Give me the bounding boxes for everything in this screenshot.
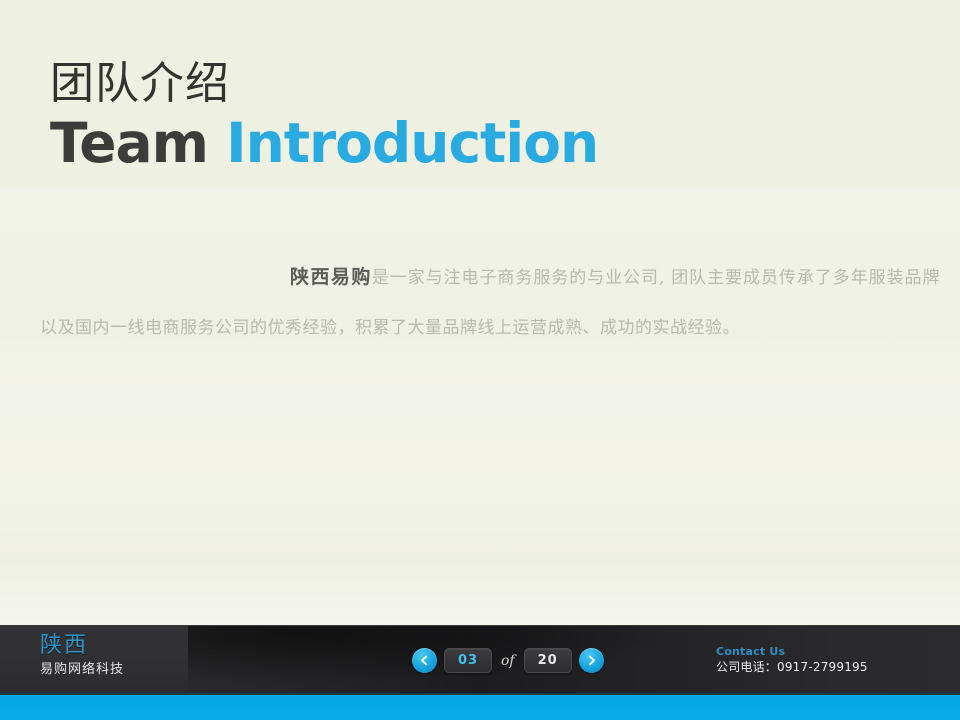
current-page-box[interactable]: 03 (444, 648, 492, 673)
pagination-separator: of (499, 653, 517, 669)
logo-subtitle: 易购网络科技 (40, 662, 124, 678)
contact-phone: 公司电话：0917-2799195 (716, 659, 868, 675)
logo-panel[interactable]: 陕西 易购网络科技 (0, 626, 188, 696)
page-title-english-accent: Introduction (226, 111, 598, 175)
presentation-slide: 团队介绍 Team Introduction 陕西易购是一家与注电子商务服务的与… (0, 0, 960, 720)
body-paragraph-text: 是一家与注电子商务服务的与业公司, 团队主要成员传承了多年服装品牌以及国内一线电… (40, 268, 940, 338)
current-page-number: 03 (458, 653, 478, 668)
page-title-chinese: 团队介绍 (50, 58, 890, 110)
footer-accent-strip (0, 695, 960, 720)
next-page-button[interactable] (579, 648, 604, 673)
contact-block: Contact Us 公司电话：0917-2799195 (716, 645, 868, 675)
page-title-english-primary: Team (50, 111, 208, 175)
logo-name: 陕西 (40, 633, 88, 659)
total-pages-box: 20 (524, 648, 572, 673)
contact-heading: Contact Us (716, 645, 868, 659)
pagination-control: 03 of 20 (412, 648, 604, 673)
page-title-block: 团队介绍 Team Introduction (50, 58, 890, 174)
page-title-english: Team Introduction (50, 112, 890, 174)
body-paragraph: 陕西易购是一家与注电子商务服务的与业公司, 团队主要成员传承了多年服装品牌以及国… (40, 252, 940, 353)
total-pages-number: 20 (538, 653, 558, 668)
brand-name: 陕西易购 (290, 266, 372, 288)
prev-page-button[interactable] (412, 648, 437, 673)
chevron-left-icon (419, 655, 430, 666)
chevron-right-icon (586, 655, 597, 666)
